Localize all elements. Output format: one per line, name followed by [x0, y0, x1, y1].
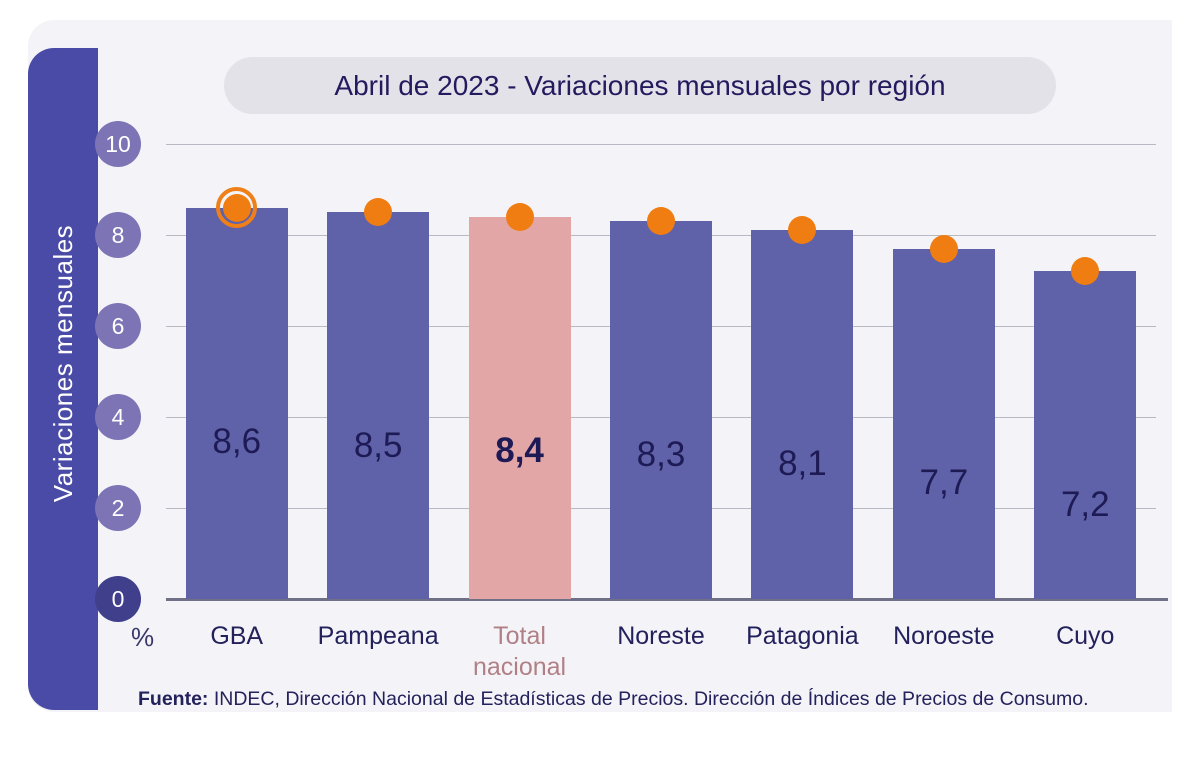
y-axis-tick-6: 6 [95, 303, 141, 349]
y-axis-tick-8: 8 [95, 212, 141, 258]
bar-value-label: 7,7 [893, 463, 995, 503]
vertical-axis-rail: Variaciones mensuales [28, 48, 98, 710]
marker-dot-total-nacional[interactable] [506, 203, 534, 231]
bar-value-label: 8,3 [610, 435, 712, 475]
bar-value-label: 8,5 [327, 426, 429, 466]
chart-card: Variaciones mensuales Abril de 2023 - Va… [28, 20, 1172, 712]
y-axis-tick-2: 2 [95, 485, 141, 531]
marker-dot-noreste[interactable] [647, 207, 675, 235]
plot-area: 02468108,6GBA8,5Pampeana8,4Totalnacional… [166, 144, 1156, 599]
bar-gba[interactable]: 8,6 [186, 208, 288, 599]
y-axis-tick-10: 10 [95, 121, 141, 167]
x-axis-label-noreste: Noreste [590, 621, 732, 652]
x-axis-label-cuyo: Cuyo [1014, 621, 1156, 652]
y-axis-tick-0: 0 [95, 576, 141, 622]
bar-cuyo[interactable]: 7,2 [1034, 271, 1136, 599]
chart-title-pill: Abril de 2023 - Variaciones mensuales po… [224, 57, 1056, 114]
x-axis-label-line: Pampeana [307, 621, 449, 652]
marker-dot-patagonia[interactable] [788, 216, 816, 244]
bar-value-label: 7,2 [1034, 485, 1136, 525]
source-note: Fuente: INDEC, Dirección Nacional de Est… [138, 688, 1088, 711]
bar-noreste[interactable]: 8,3 [610, 221, 712, 599]
marker-dot-pampeana[interactable] [364, 198, 392, 226]
bar-noroeste[interactable]: 7,7 [893, 249, 995, 599]
bar-patagonia[interactable]: 8,1 [751, 230, 853, 599]
source-text: INDEC, Dirección Nacional de Estadística… [208, 688, 1088, 710]
page-title: Abril de 2023 - Variaciones mensuales po… [334, 70, 945, 102]
bar-total-nacional[interactable]: 8,4 [469, 217, 571, 599]
unit-symbol: % [131, 622, 154, 653]
x-axis-label-line: nacional [449, 652, 591, 683]
bar-value-label: 8,6 [186, 422, 288, 462]
x-axis-label-line: GBA [166, 621, 308, 652]
x-axis-label-noroeste: Noroeste [873, 621, 1015, 652]
marker-dot-noroeste[interactable] [930, 235, 958, 263]
x-axis-label-gba: GBA [166, 621, 308, 652]
bar-value-label: 8,1 [751, 444, 853, 484]
chart-screenshot: Variaciones mensuales Abril de 2023 - Va… [0, 0, 1200, 761]
x-axis-label-line: Total [449, 621, 591, 652]
bar-pampeana[interactable]: 8,5 [327, 212, 429, 599]
source-label: Fuente: [138, 688, 208, 710]
bar-value-label: 8,4 [469, 431, 571, 471]
x-axis-label-line: Noreste [590, 621, 732, 652]
x-axis-label-pampeana: Pampeana [307, 621, 449, 652]
x-axis-label-line: Noroeste [873, 621, 1015, 652]
x-axis-label-patagonia: Patagonia [731, 621, 873, 652]
y-axis-title: Variaciones mensuales [48, 76, 79, 651]
x-axis-label-line: Patagonia [731, 621, 873, 652]
marker-dot-cuyo[interactable] [1071, 257, 1099, 285]
gridline [166, 144, 1156, 145]
marker-dot-gba[interactable] [223, 194, 251, 222]
y-axis-tick-4: 4 [95, 394, 141, 440]
x-axis-label-total-nacional: Totalnacional [449, 621, 591, 683]
x-axis-label-line: Cuyo [1014, 621, 1156, 652]
